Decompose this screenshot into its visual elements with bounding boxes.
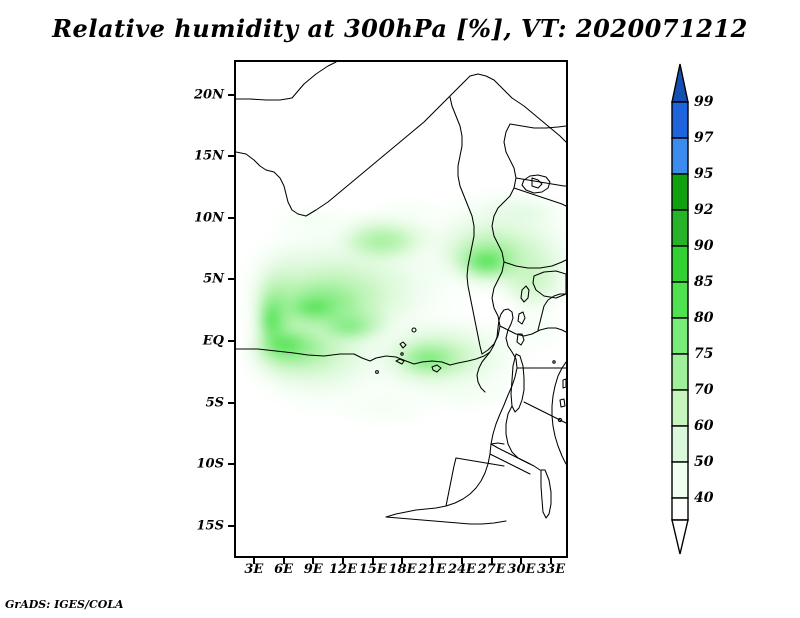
colorbar-label: 50	[694, 454, 713, 470]
colorbar	[668, 62, 692, 556]
y-axis-label: EQ	[186, 334, 224, 349]
colorbar-label: 60	[694, 418, 713, 434]
colorbar-label: 80	[694, 310, 713, 326]
page-title: Relative humidity at 300hPa [%], VT: 202…	[0, 14, 800, 43]
footer-credit: GrADS: IGES/COLA	[5, 598, 124, 611]
x-axis-label: 24E	[448, 562, 476, 577]
colorbar-label: 40	[694, 490, 713, 506]
colorbar-label: 70	[694, 382, 713, 398]
y-axis-tick	[228, 217, 234, 219]
y-axis-tick	[228, 340, 234, 342]
y-axis-label: 10S	[186, 457, 224, 472]
y-axis-tick	[228, 402, 234, 404]
x-axis-label: 18E	[388, 562, 416, 577]
x-axis-label: 3E	[244, 562, 263, 577]
x-axis-label: 30E	[507, 562, 535, 577]
y-axis-label: 10N	[186, 210, 224, 225]
x-axis-label: 6E	[274, 562, 293, 577]
colorbar-label: 90	[694, 238, 713, 254]
colorbar-label: 95	[694, 166, 713, 182]
y-axis-tick	[228, 278, 234, 280]
y-axis-tick	[228, 94, 234, 96]
colorbar-label: 85	[694, 274, 713, 290]
y-axis-label: 5N	[186, 272, 224, 287]
x-axis-label: 12E	[329, 562, 357, 577]
y-axis-tick	[228, 463, 234, 465]
y-axis-tick	[228, 155, 234, 157]
y-axis-label: 15N	[186, 149, 224, 164]
x-axis-label: 27E	[478, 562, 506, 577]
map-plot-frame	[234, 60, 568, 558]
y-axis-label: 15S	[186, 518, 224, 533]
x-axis-label: 21E	[418, 562, 446, 577]
y-axis-tick	[228, 525, 234, 527]
x-axis-label: 33E	[537, 562, 565, 577]
colorbar-label: 92	[694, 202, 713, 218]
y-axis-label: 20N	[186, 87, 224, 102]
colorbar-label: 97	[694, 130, 713, 146]
map-canvas	[236, 62, 566, 556]
colorbar-label: 99	[694, 94, 713, 110]
y-axis-label: 5S	[186, 395, 224, 410]
x-axis-label: 9E	[304, 562, 323, 577]
x-axis-label: 15E	[359, 562, 387, 577]
colorbar-label: 75	[694, 346, 713, 362]
